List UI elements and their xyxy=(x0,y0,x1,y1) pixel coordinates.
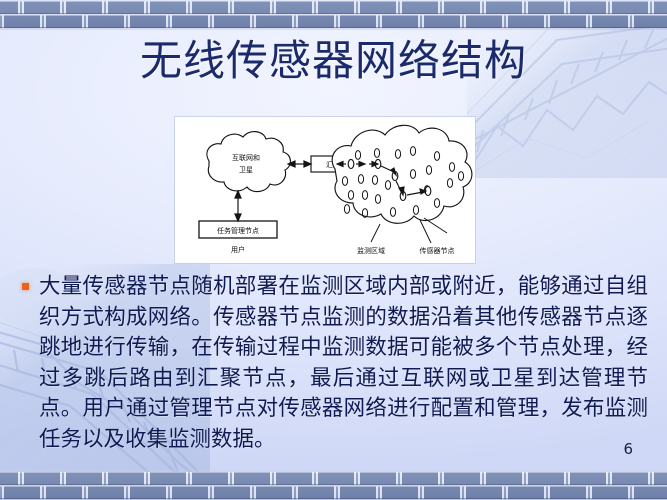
leader-lines xyxy=(371,218,447,243)
presentation-slide: 无线传感器网络结构 互联网和 卫星 汇聚节点 xyxy=(0,0,667,500)
brick-row xyxy=(0,15,667,28)
brick-row xyxy=(0,1,667,14)
cloud-label-line1: 互联网和 xyxy=(232,153,260,162)
brick-row xyxy=(0,486,667,499)
arrow-cloud-task-manager xyxy=(235,191,241,221)
diagram-canvas: 互联网和 卫星 汇聚节点 任务管理节点 xyxy=(175,117,475,263)
task-management-node-box: 任务管理节点 xyxy=(199,221,277,238)
arrow-cloud-sink xyxy=(288,161,311,167)
user-label: 用户 xyxy=(231,245,245,254)
page-number: 6 xyxy=(623,440,633,458)
brick-row xyxy=(0,472,667,485)
task-management-label: 任务管理节点 xyxy=(217,226,259,235)
page-title: 无线传感器网络结构 xyxy=(0,36,667,86)
cloud-label-line2: 卫星 xyxy=(239,166,253,174)
bottom-brick-border xyxy=(0,470,667,500)
monitoring-area-label: 监测区域 xyxy=(357,246,385,255)
network-architecture-diagram: 互联网和 卫星 汇聚节点 任务管理节点 xyxy=(175,117,475,263)
body-content: 大量传感器节点随机部署在监测区域内部或附近，能够通过自组织方式构成网络。传感器节… xyxy=(22,272,648,455)
top-brick-border xyxy=(0,0,667,30)
square-bullet-icon xyxy=(22,283,29,290)
body-paragraph: 大量传感器节点随机部署在监测区域内部或附近，能够通过自组织方式构成网络。传感器节… xyxy=(39,272,648,455)
internet-satellite-cloud: 互联网和 卫星 xyxy=(207,132,290,192)
sensor-node-label: 传感器节点 xyxy=(420,246,455,255)
monitoring-region-cloud xyxy=(332,125,472,243)
